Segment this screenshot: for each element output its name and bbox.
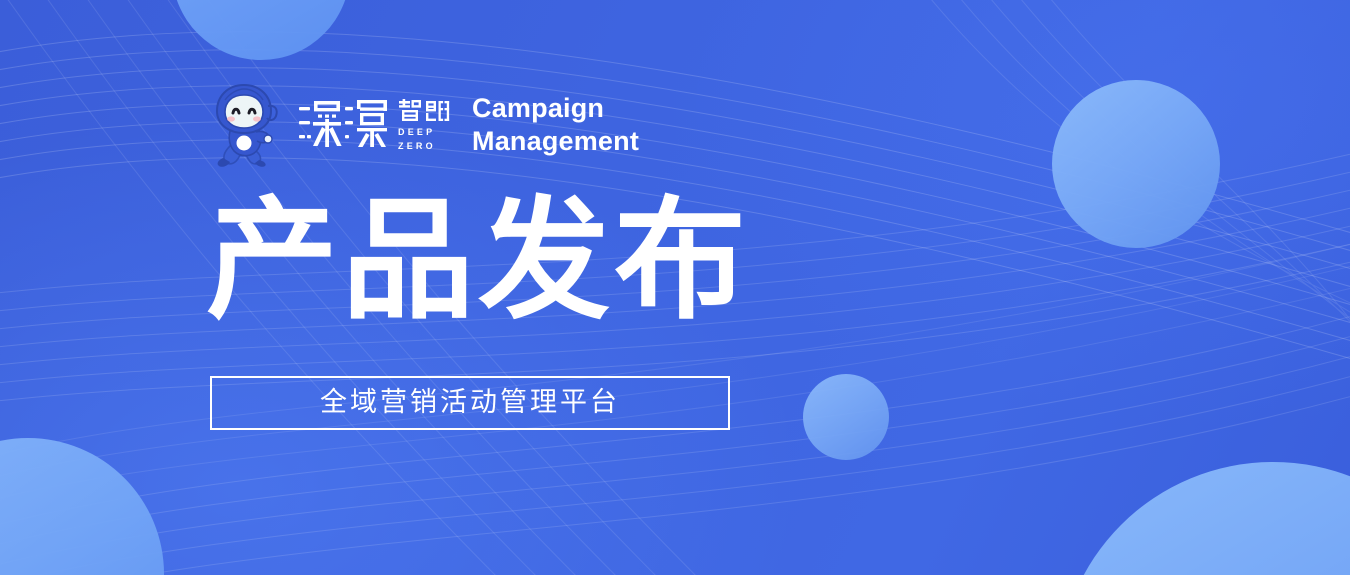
brand-en-zero: ZERO — [398, 141, 436, 151]
product-name-en-line2: Management — [472, 125, 639, 158]
product-name-en: Campaign Management — [472, 92, 639, 158]
hero-subtitle-box: 全域营销活动管理平台 — [210, 376, 730, 430]
product-name-en-line1: Campaign — [472, 92, 639, 125]
brand-wordmark-cn: DEEP ZERO — [298, 97, 450, 153]
brand-wordmark-zhineng-icon — [398, 99, 450, 123]
product-launch-banner: DEEP ZERO Campaign Management 产品发布 全域营销活… — [0, 0, 1350, 575]
banner-content: DEEP ZERO Campaign Management 产品发布 全域营销活… — [0, 0, 1350, 575]
brand-en-deep: DEEP — [398, 127, 435, 137]
hero-subtitle: 全域营销活动管理平台 — [320, 388, 620, 418]
deepzero-robot-mascot-icon — [208, 82, 284, 168]
brand-logo-row: DEEP ZERO Campaign Management — [208, 82, 639, 168]
hero-title: 产品发布 — [206, 186, 750, 336]
brand-zhineng-block: DEEP ZERO — [398, 97, 450, 151]
brand-wordmark-shenyan-icon — [298, 97, 390, 153]
